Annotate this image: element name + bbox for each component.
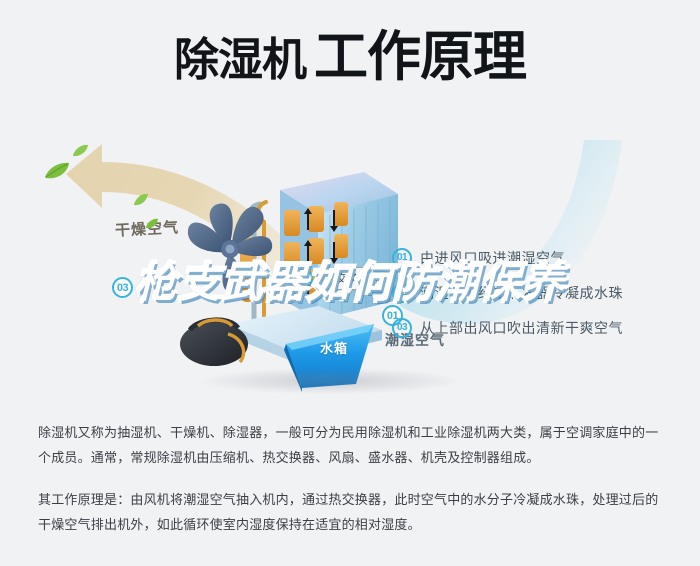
page-title-part1: 除湿机 (174, 34, 306, 85)
leaf-icon (72, 144, 89, 157)
watermark-overlay-text: 枪支武器如何防潮保养 (0, 262, 700, 304)
body-paragraph-1: 除湿机又称为抽湿机、干燥机、除湿器，一般可分为民用除湿机和工业除湿机两大类，属于… (38, 420, 668, 471)
list-item: 03 从上部出风口吹出清新干爽空气 (392, 317, 692, 338)
water-tank-label: 水箱 (320, 338, 348, 357)
step-number: 03 (392, 318, 412, 338)
leaf-icon (145, 218, 159, 229)
device-ground-shadow (200, 368, 460, 394)
watermark-text: 枪支武器如何防潮保养 (135, 259, 565, 306)
infographic-page: 除湿机工作原理 (0, 0, 700, 566)
page-title-part2: 工作原理 (314, 27, 526, 87)
leaf-icon (44, 162, 70, 180)
leaf-icon (133, 193, 149, 206)
step-text: 从上部出风口吹出清新干爽空气 (420, 318, 623, 338)
body-paragraph-2: 其工作原理是：由风机将潮湿空气抽入机内，通过热交换器，此时空气中的水分子冷凝成水… (38, 487, 668, 538)
page-title: 除湿机工作原理 (0, 30, 700, 84)
body-copy: 除湿机又称为抽湿机、干燥机、除湿器，一般可分为民用除湿机和工业除湿机两大类，属于… (38, 420, 668, 537)
